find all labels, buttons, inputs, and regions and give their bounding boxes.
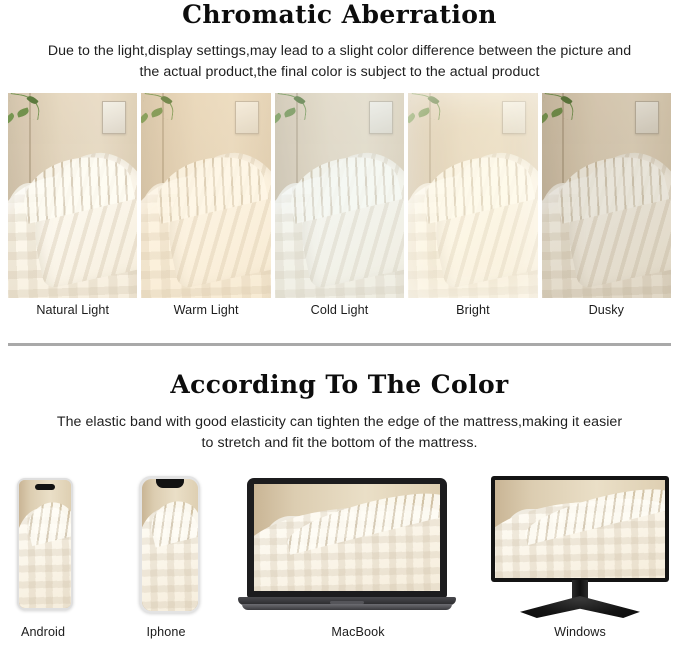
device-label-iphone: Iphone: [146, 625, 185, 639]
device-windows-monitor[interactable]: [491, 476, 669, 616]
macbook-base: [242, 604, 452, 610]
lighting-label-cold-light: Cold Light: [275, 303, 404, 327]
plant-leaves-icon: [8, 93, 49, 142]
monitor-stand: [520, 596, 640, 618]
lighting-label-dusky: Dusky: [542, 303, 671, 327]
device-macbook-laptop[interactable]: [238, 478, 456, 613]
iphone-notch-icon: [156, 479, 184, 488]
lighting-label-natural-light: Natural Light: [8, 303, 137, 327]
lighting-label-bright: Bright: [408, 303, 537, 327]
page-title-chromatic-aberration: Chromatic Aberration: [0, 2, 679, 28]
plant-leaves-icon: [275, 93, 316, 142]
picture-frame: [635, 101, 659, 134]
lighting-caption-row: Natural Light Warm Light Cold Light Brig…: [8, 303, 671, 327]
macbook-lid: [247, 478, 447, 598]
device-caption-row: Android Iphone MacBook Windows: [0, 625, 679, 645]
lighting-comparison-strip: [8, 93, 671, 298]
product-detail-page: Chromatic Aberration Due to the light,di…: [0, 0, 679, 644]
according-to-the-color-description: The elastic band with good elasticity ca…: [0, 412, 679, 454]
section-divider: [8, 343, 671, 346]
picture-frame: [235, 101, 259, 134]
picture-frame: [369, 101, 393, 134]
section-chromatic-aberration: Chromatic Aberration Due to the light,di…: [0, 2, 679, 83]
macbook-screen: [254, 484, 440, 591]
plant-leaves-icon: [141, 93, 182, 142]
lighting-sample-warm-light[interactable]: [141, 93, 270, 298]
device-label-android: Android: [21, 625, 65, 639]
lighting-sample-natural-light[interactable]: [8, 93, 137, 298]
plant-leaves-icon: [408, 93, 449, 142]
product-photo: [495, 480, 665, 578]
description-line-2: to stretch and fit the bottom of the mat…: [0, 433, 679, 454]
android-camera-notch-icon: [35, 484, 55, 490]
device-preview-row: [0, 470, 679, 644]
product-photo: [254, 484, 440, 591]
device-iphone-phone[interactable]: [139, 476, 200, 613]
macbook-trackpad-notch: [330, 601, 364, 604]
device-android-phone[interactable]: [17, 478, 73, 610]
product-photo: [142, 479, 198, 611]
device-label-macbook: MacBook: [331, 625, 384, 639]
lighting-label-warm-light: Warm Light: [141, 303, 270, 327]
lighting-sample-dusky[interactable]: [542, 93, 671, 298]
lighting-sample-cold-light[interactable]: [275, 93, 404, 298]
device-label-windows: Windows: [554, 625, 606, 639]
android-screen: [19, 480, 71, 608]
iphone-screen: [142, 479, 198, 611]
description-line-1: The elastic band with good elasticity ca…: [57, 414, 622, 430]
description-line-1: Due to the light,display settings,may le…: [48, 43, 631, 59]
chromatic-aberration-description: Due to the light,display settings,may le…: [0, 41, 679, 83]
plant-leaves-icon: [542, 93, 583, 142]
description-line-2: the actual product,the final color is su…: [0, 62, 679, 83]
page-title-according-to-the-color: According To The Color: [0, 372, 679, 398]
monitor-screen: [495, 480, 665, 578]
product-photo: [19, 480, 71, 608]
lighting-sample-bright[interactable]: [408, 93, 537, 298]
section-according-to-the-color: According To The Color The elastic band …: [0, 372, 679, 454]
monitor-bezel: [491, 476, 669, 582]
picture-frame: [102, 101, 126, 134]
picture-frame: [502, 101, 526, 134]
